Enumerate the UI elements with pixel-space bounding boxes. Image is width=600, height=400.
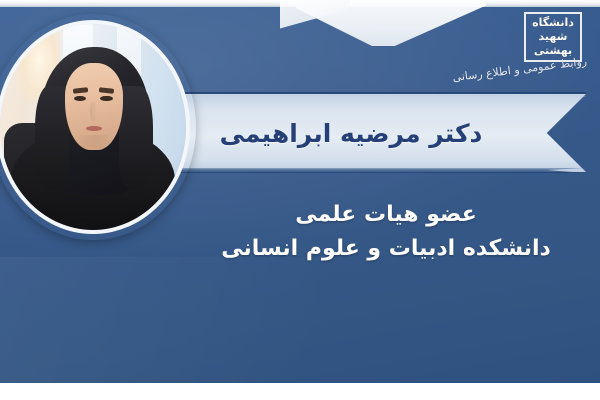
background-sheen (0, 257, 600, 390)
subtitle-line-2: دانشکده ادبیات و علوم انسانی (190, 232, 582, 266)
public-relations-calligraphy: روابط عمومی و اطلاع رسانی (482, 52, 589, 96)
university-logo: دانشگاه شهید بهشتی روابط عمومی و اطلاع ر… (482, 6, 590, 94)
subtitle-line-1: عضو هیات علمی (190, 198, 582, 232)
subtitle-block: عضو هیات علمی دانشکده ادبیات و علوم انسا… (190, 198, 582, 266)
person-name: دکتر مرضیه ابراهیمی (150, 94, 570, 172)
poster-canvas: دانشگاه شهید بهشتی روابط عمومی و اطلاع ر… (0, 0, 600, 400)
portrait-photo (0, 20, 190, 234)
photo-vignette (0, 24, 186, 230)
logo-line-1: دانشگاه (532, 16, 574, 30)
logo-line-2: شهید (539, 30, 568, 44)
portrait-container (0, 14, 196, 240)
